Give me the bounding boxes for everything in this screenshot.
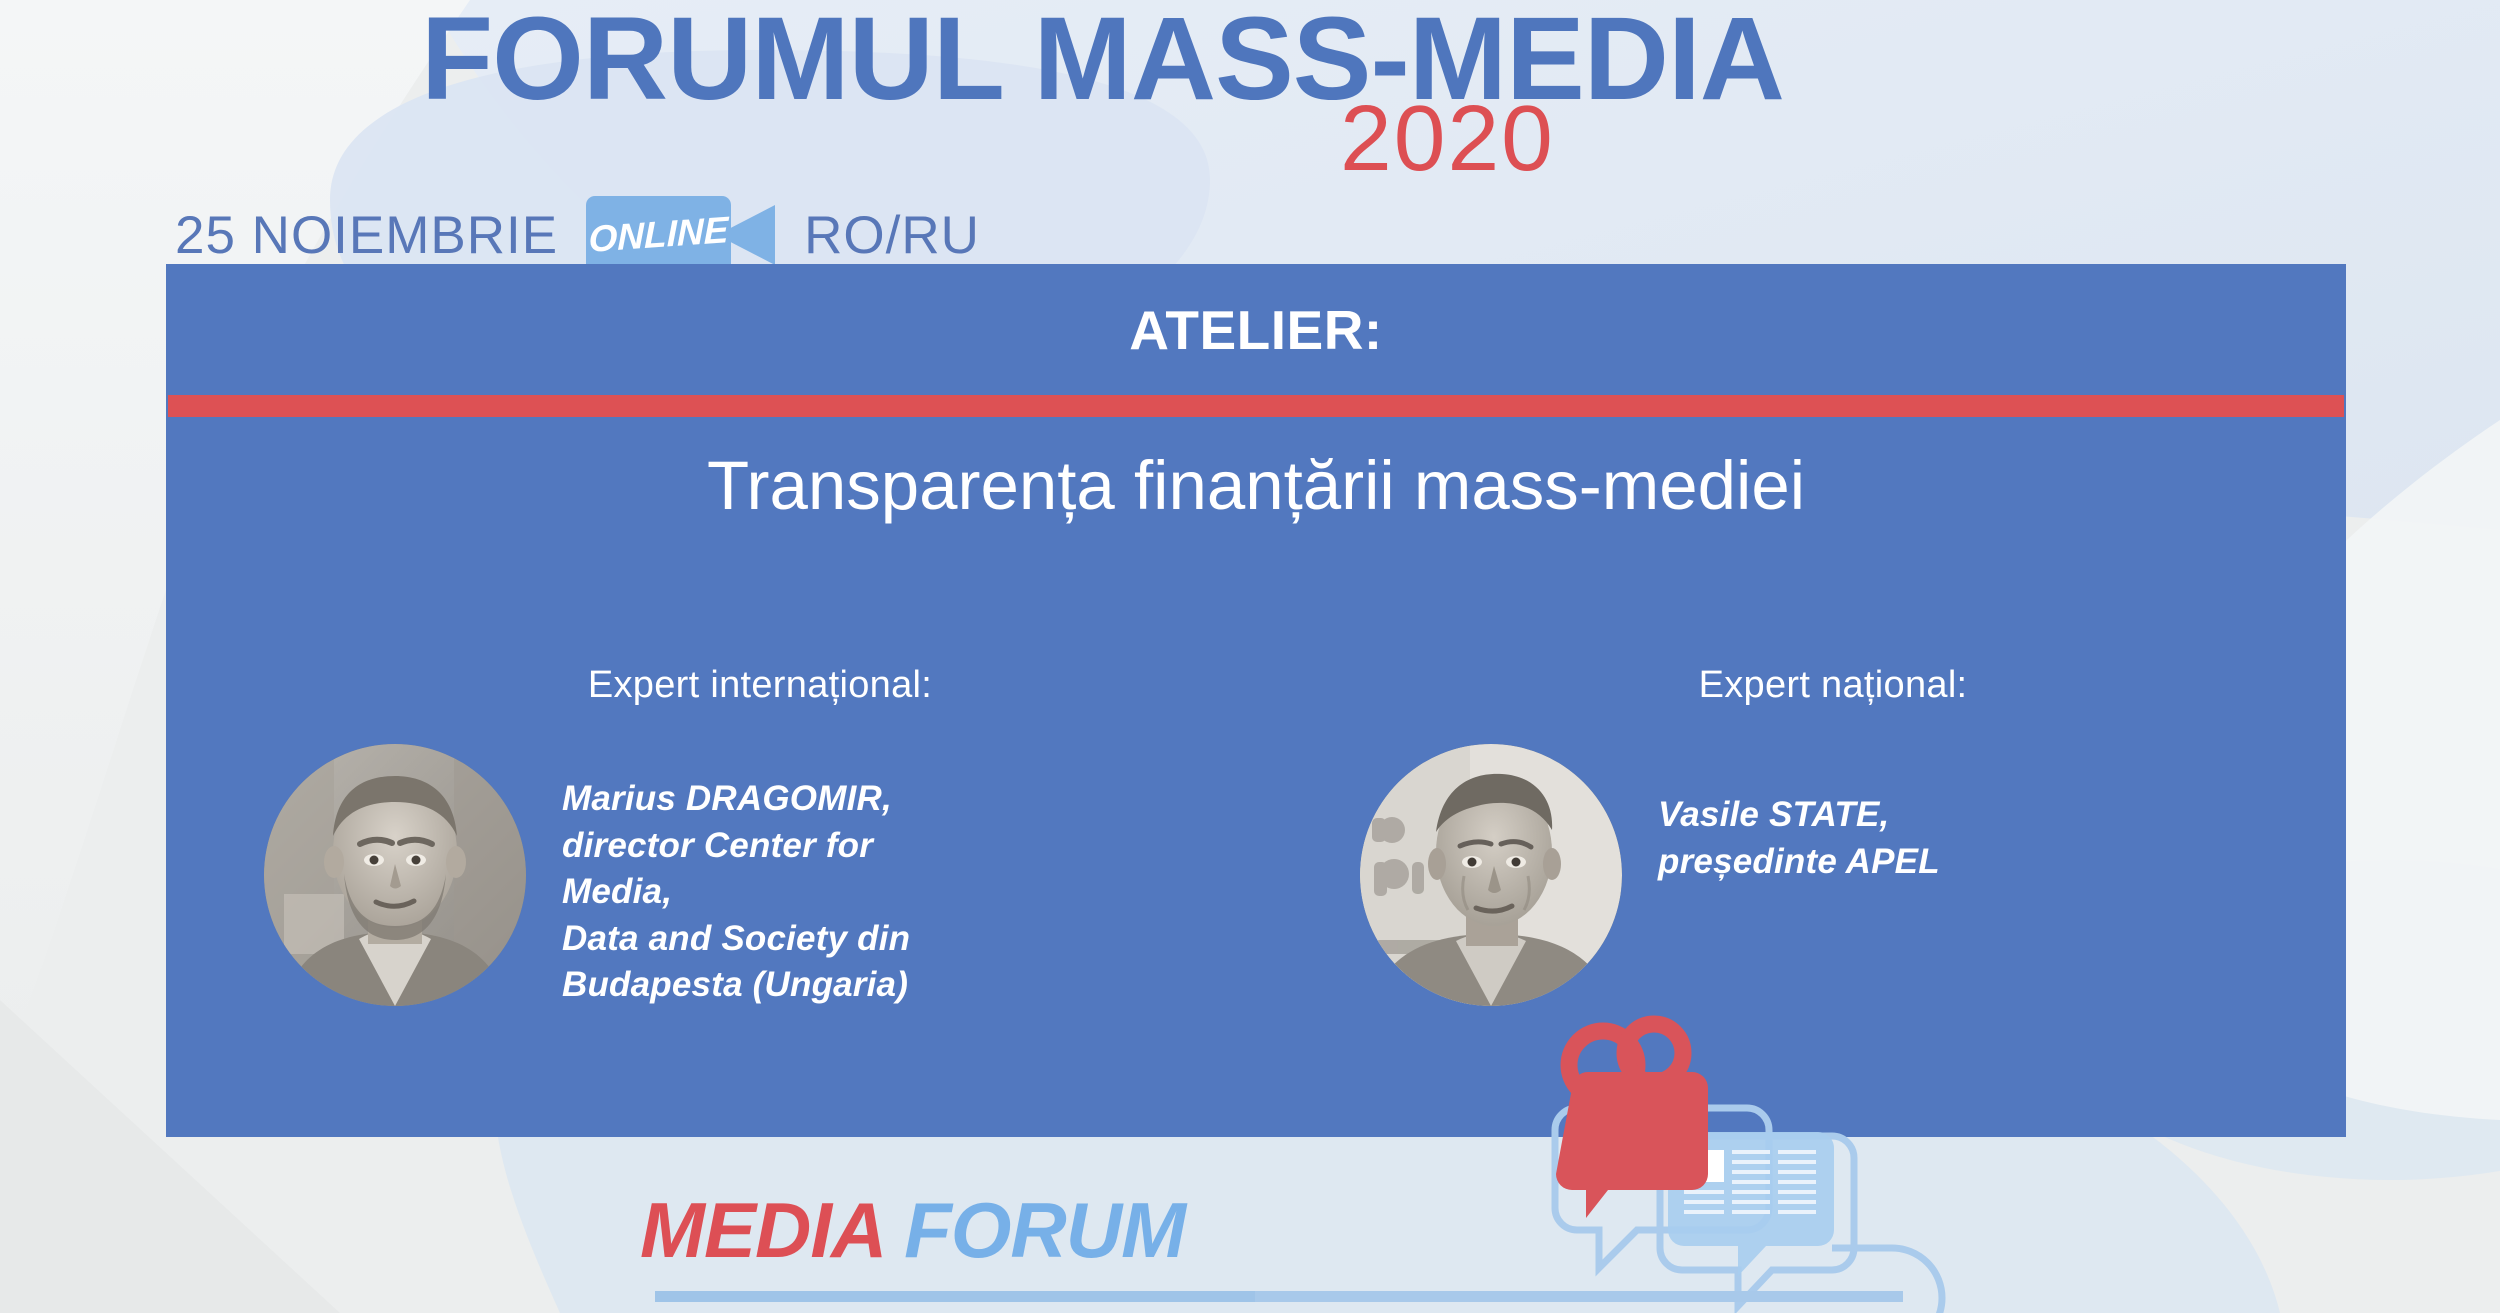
logo-text-media: MEDIA (640, 1186, 883, 1274)
section-label: ATELIER: (166, 264, 2346, 362)
experts-row: Expert internațional: (166, 664, 2346, 1009)
expert-role-label: Expert național: (1320, 664, 2346, 707)
divider-rule (168, 395, 2344, 417)
expert-name: Marius DRAGOMIR, director Center for Med… (526, 744, 946, 1009)
event-meta-line: 25 NOIEMBRIE ONLINE RO/RU (175, 204, 980, 266)
session-title: Transparența finanțării mass-mediei (166, 444, 2346, 528)
header: FORUMUL MASS-MEDIA 2020 25 NOIEMBRIE ONL… (0, 0, 2500, 270)
session-panel: ATELIER: Transparența finanțării mass-me… (166, 264, 2346, 1137)
event-date: 25 NOIEMBRIE (175, 205, 558, 266)
footer-underline-segment (1255, 1291, 1903, 1302)
video-camera-icon: ONLINE (586, 196, 776, 274)
event-languages: RO/RU (804, 205, 980, 266)
expert-card-international: Expert internațional: (166, 664, 1256, 1009)
logo-text-forum: FORUM (883, 1186, 1185, 1274)
event-year: 2020 (1340, 92, 1940, 185)
expert-card-national: Expert național: (1256, 664, 2346, 1009)
avatar (1360, 744, 1622, 1006)
expert-role-label: Expert internațional: (264, 664, 1256, 707)
vasile-state-portrait (1360, 744, 1622, 1006)
avatar (264, 744, 526, 1006)
footer-underline (655, 1291, 1903, 1302)
marius-dragomir-portrait (264, 744, 526, 1006)
media-forum-logo: MEDIA FORUM (640, 1185, 1185, 1276)
expert-name: Vasile STATE, președinte APEL (1622, 744, 1940, 885)
